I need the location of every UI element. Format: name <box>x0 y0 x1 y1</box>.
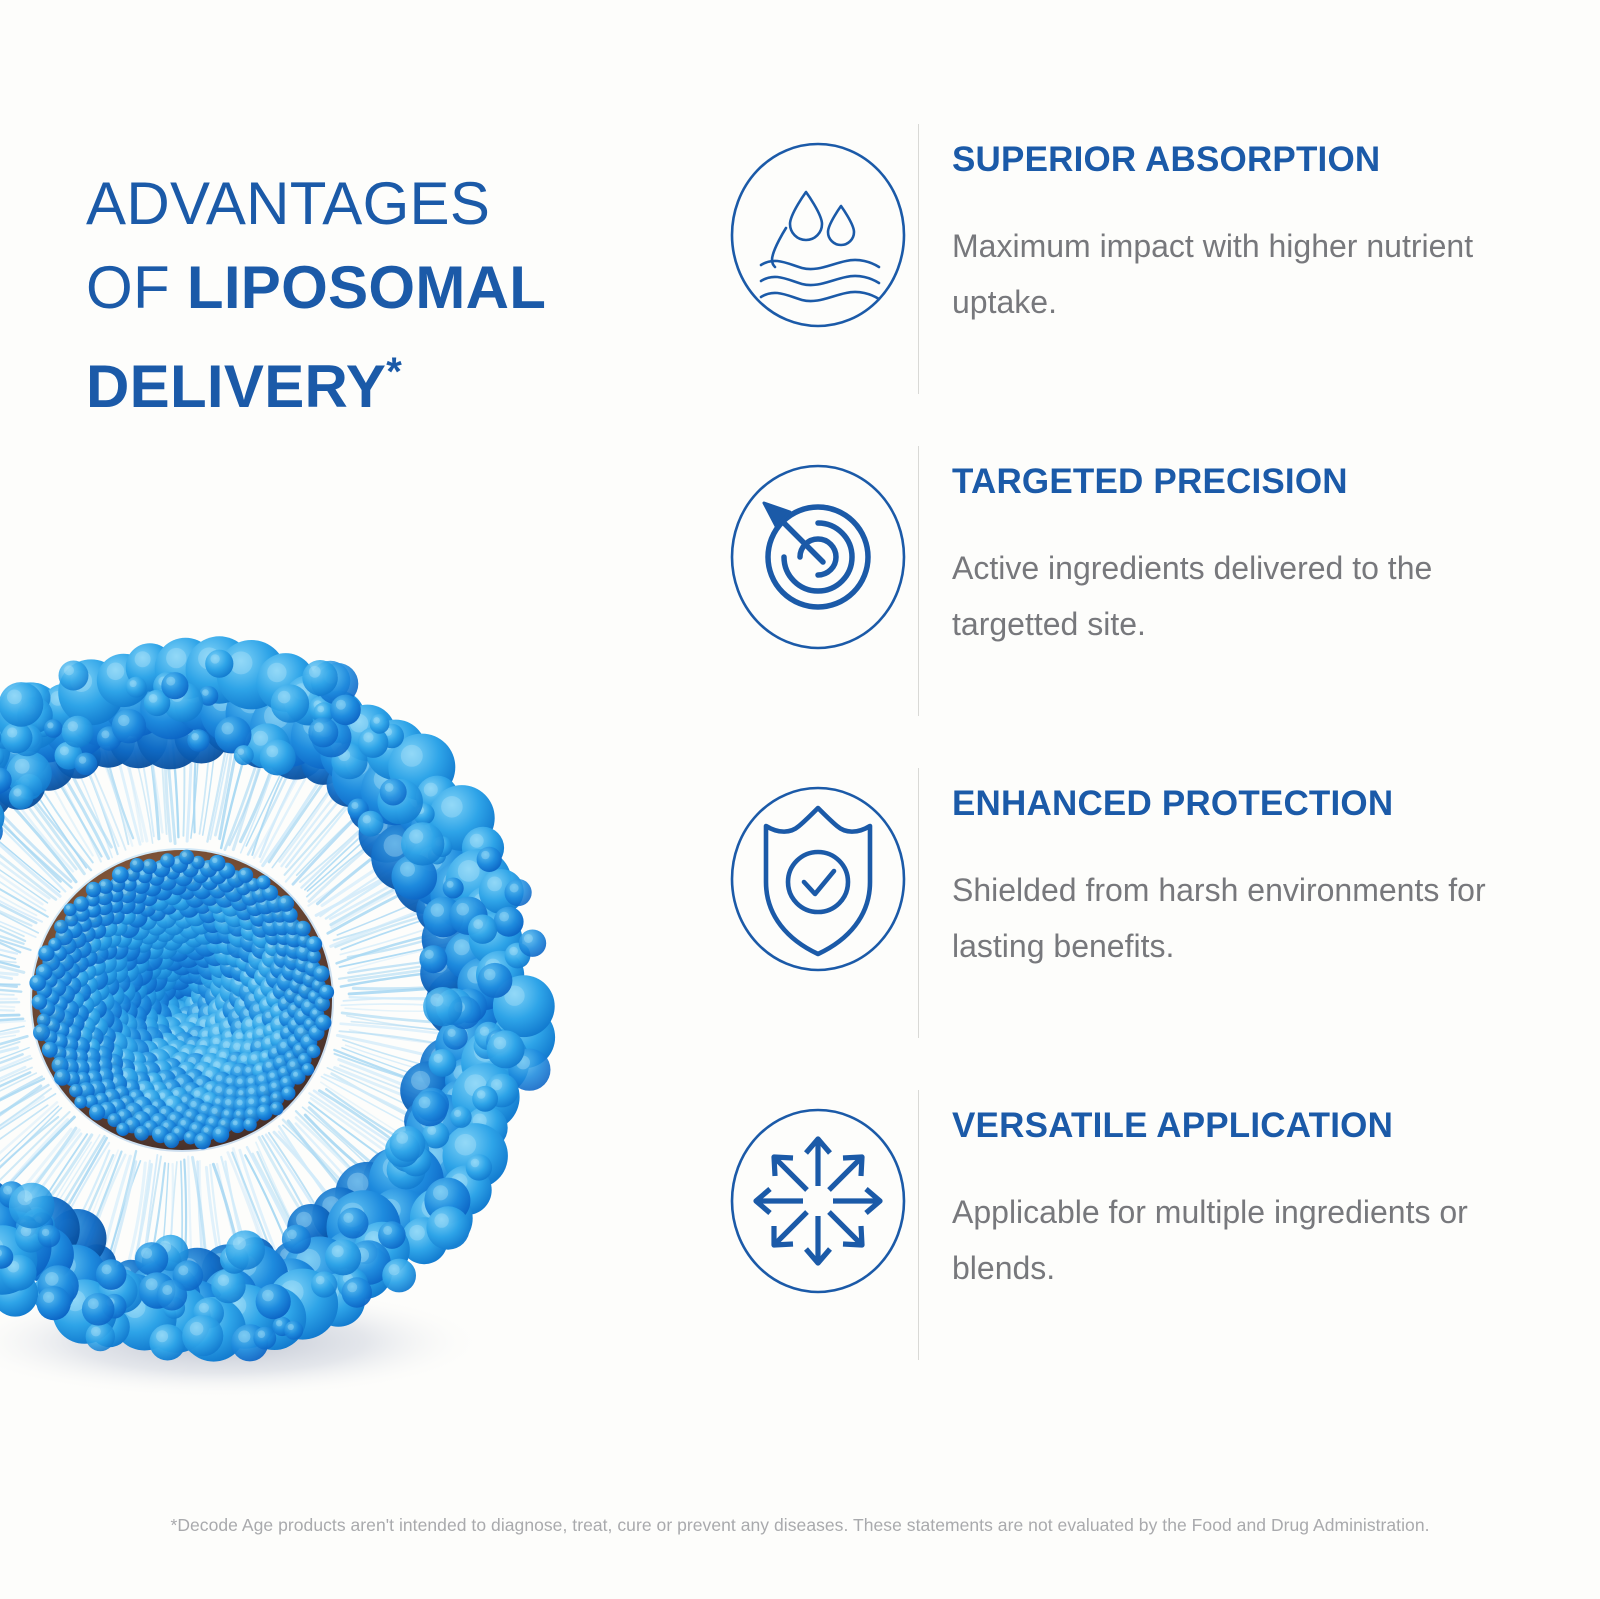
feature-text: ENHANCED PROTECTION Shielded from harsh … <box>952 766 1528 974</box>
feature-row-enhanced-protection: ENHANCED PROTECTION Shielded from harsh … <box>718 766 1528 1048</box>
feature-row-superior-absorption: SUPERIOR ABSORPTION Maximum impact with … <box>718 122 1528 404</box>
feature-heading: ENHANCED PROTECTION <box>952 784 1528 824</box>
feature-body: Shielded from harsh environments for las… <box>952 862 1512 974</box>
feature-divider <box>918 1090 919 1360</box>
footer-disclaimer: *Decode Age products aren't intended to … <box>0 1513 1600 1537</box>
feature-icon-wrap <box>718 444 918 652</box>
title-word-delivery: DELIVERY <box>86 353 386 420</box>
feature-divider <box>918 446 919 716</box>
feature-icon-wrap <box>718 766 918 974</box>
feature-body: Applicable for multiple ingredients or b… <box>952 1184 1512 1296</box>
multi-direction-arrows-icon <box>728 1106 908 1296</box>
feature-body: Maximum impact with higher nutrient upta… <box>952 218 1512 330</box>
liposome-illustration <box>0 600 580 1410</box>
title-word-of: OF <box>86 254 187 321</box>
feature-icon-wrap <box>718 1088 918 1296</box>
feature-divider <box>918 768 919 1038</box>
feature-heading: SUPERIOR ABSORPTION <box>952 140 1528 180</box>
feature-body: Active ingredients delivered to the targ… <box>952 540 1512 652</box>
title-word-advantages: ADVANTAGES <box>86 170 490 237</box>
feature-heading: VERSATILE APPLICATION <box>952 1106 1528 1146</box>
shield-check-icon <box>728 784 908 974</box>
feature-row-targeted-precision: TARGETED PRECISION Active ingredients de… <box>718 444 1528 726</box>
feature-text: VERSATILE APPLICATION Applicable for mul… <box>952 1088 1528 1296</box>
feature-heading: TARGETED PRECISION <box>952 462 1528 502</box>
target-arrow-icon <box>728 462 908 652</box>
title-asterisk: * <box>386 350 402 394</box>
feature-row-versatile-application: VERSATILE APPLICATION Applicable for mul… <box>718 1088 1528 1370</box>
feature-icon-wrap <box>718 122 918 330</box>
feature-list: SUPERIOR ABSORPTION Maximum impact with … <box>718 122 1528 1370</box>
page-title: ADVANTAGES OF LIPOSOMAL DELIVERY* <box>86 162 686 429</box>
feature-text: SUPERIOR ABSORPTION Maximum impact with … <box>952 122 1528 330</box>
title-line-3: DELIVERY* <box>86 330 686 429</box>
feature-text: TARGETED PRECISION Active ingredients de… <box>952 444 1528 652</box>
water-drops-waves-icon <box>728 140 908 330</box>
title-line-2: OF LIPOSOMAL <box>86 246 686 330</box>
feature-divider <box>918 124 919 394</box>
title-word-liposomal: LIPOSOMAL <box>187 254 546 321</box>
title-line-1: ADVANTAGES <box>86 162 686 246</box>
